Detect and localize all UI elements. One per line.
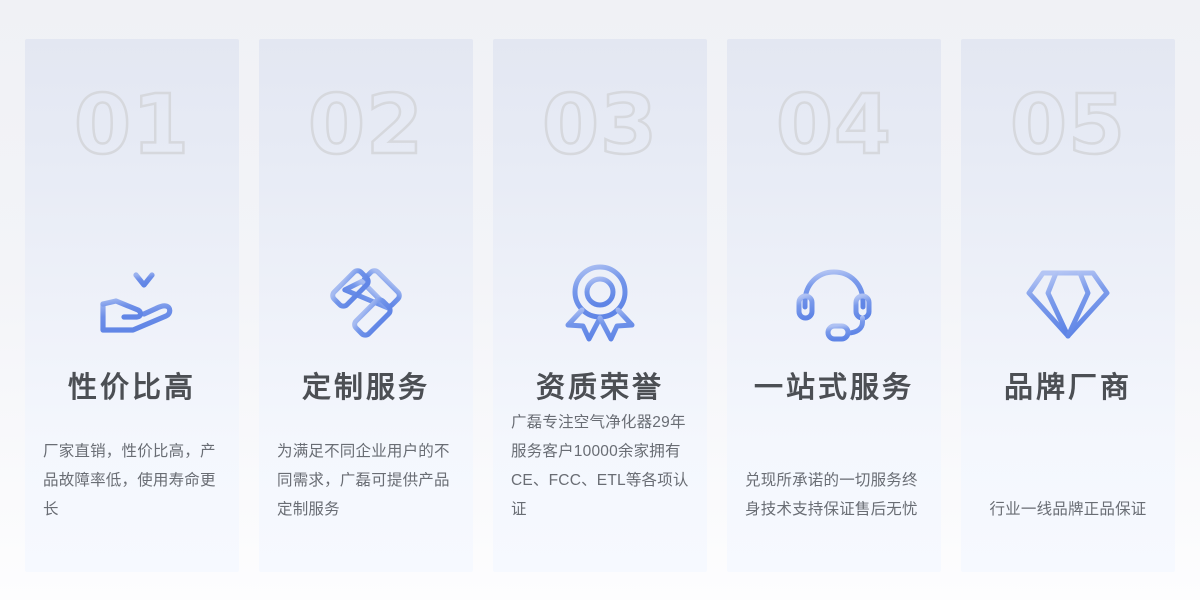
- feature-cards-board: 01: [0, 0, 1200, 600]
- card-number-4: 04: [727, 85, 941, 167]
- feature-card-2[interactable]: 02: [259, 39, 473, 572]
- card-title-1: 性价比高: [25, 364, 239, 406]
- card-description-5: 行业一线品牌正品保证: [979, 495, 1157, 524]
- card-description-2: 为满足不同企业用户的不同需求，广磊可提供产品定制服务: [277, 437, 455, 524]
- card-number-1: 01: [25, 85, 239, 167]
- crossed-pencils-icon: [259, 261, 473, 347]
- diamond-icon: [961, 261, 1175, 347]
- feature-card-5[interactable]: 05 品牌厂商 行业一线品牌正品保证: [961, 39, 1175, 572]
- card-title-3: 资质荣誉: [493, 364, 707, 406]
- card-description-3: 广磊专注空气净化器29年服务客户10000余家拥有CE、FCC、ETL等各项认证: [511, 408, 689, 524]
- feature-card-3[interactable]: 03 资质荣誉 广磊专注空气净化器29年服务客户100: [493, 39, 707, 572]
- card-title-4: 一站式服务: [727, 364, 941, 406]
- card-description-1: 厂家直销，性价比高，产品故障率低，使用寿命更长: [43, 437, 221, 524]
- feature-card-4[interactable]: 04 一站式服务 兑现所承诺的一: [727, 39, 941, 572]
- feature-card-1[interactable]: 01: [25, 39, 239, 572]
- card-title-2: 定制服务: [259, 364, 473, 406]
- headset-icon: [727, 261, 941, 347]
- card-description-4: 兑现所承诺的一切服务终身技术支持保证售后无忧: [745, 466, 923, 524]
- card-number-2: 02: [259, 85, 473, 167]
- card-number-3: 03: [493, 85, 707, 167]
- card-title-5: 品牌厂商: [961, 364, 1175, 406]
- card-number-5: 05: [961, 85, 1175, 167]
- award-medal-icon: [493, 261, 707, 347]
- hand-holding-yuan-icon: [25, 261, 239, 347]
